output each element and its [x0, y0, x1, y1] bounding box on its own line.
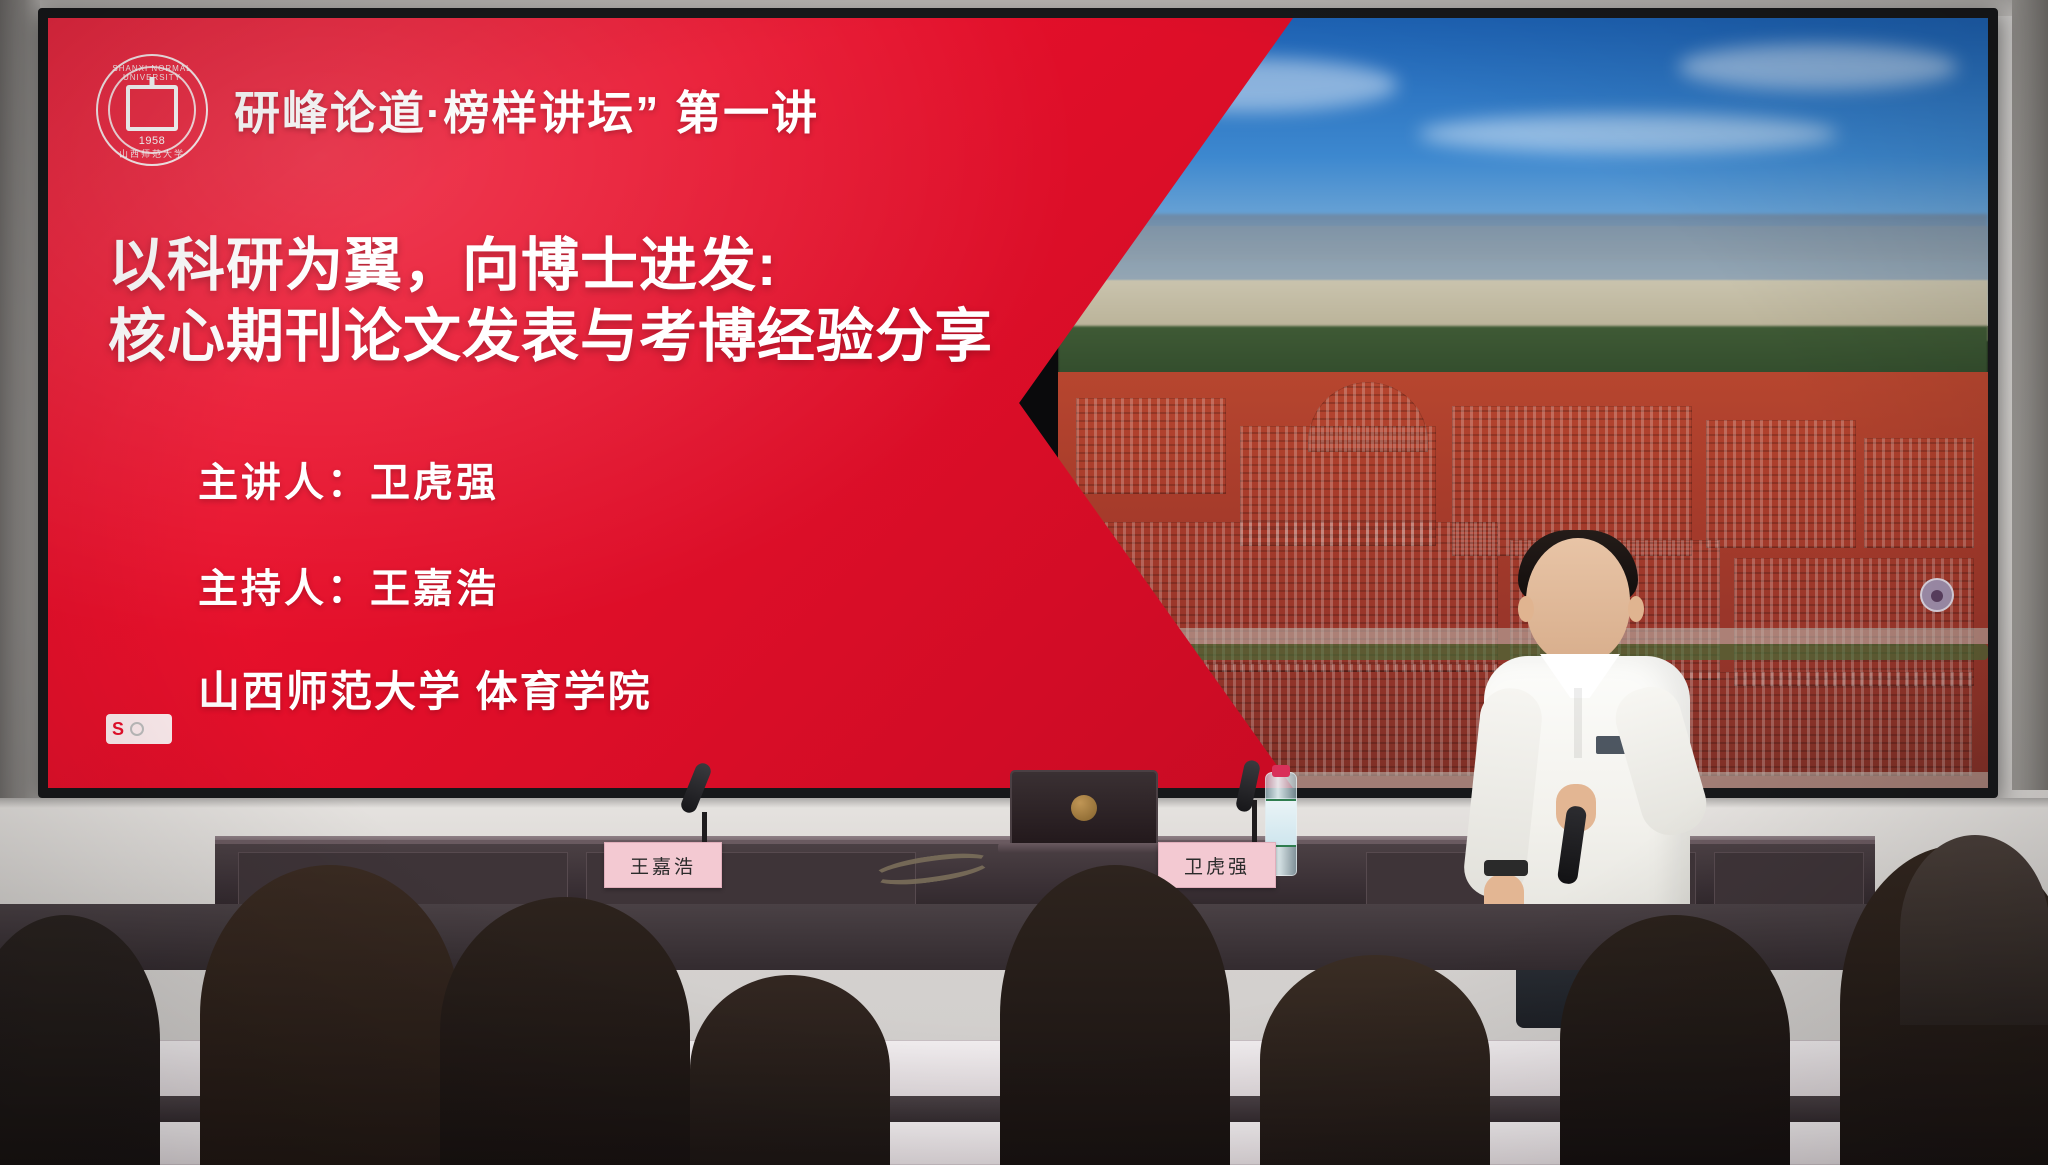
- wristwatch: [1484, 860, 1528, 876]
- slide-organization: 山西师范大学 体育学院: [198, 658, 652, 719]
- audience-head: [690, 975, 890, 1165]
- slide-kicker: 研峰论道·榜样讲坛” 第一讲: [234, 77, 819, 143]
- laptop-base: [998, 843, 1170, 853]
- watermark-avatar-icon: [1920, 578, 1954, 612]
- head: [1526, 538, 1630, 664]
- app-watermark-chip: S: [106, 714, 172, 744]
- ear: [1518, 596, 1534, 622]
- slide-people: 主讲人：卫虎强 主持人：王嘉浩: [198, 450, 499, 662]
- shirt-placket: [1574, 688, 1582, 758]
- slide-speaker-label: 主讲人：卫虎强: [198, 450, 499, 508]
- wall-left: [0, 0, 40, 820]
- laptop: [1010, 770, 1158, 845]
- university-seal-icon: SHANXI NORMAL UNIVERSITY 1958 山西师范大学: [96, 54, 208, 166]
- ear: [1628, 596, 1644, 622]
- audience-head: [440, 897, 690, 1165]
- seal-chinese-arc: 山西师范大学: [98, 147, 206, 160]
- cloud: [1678, 44, 1958, 90]
- nameplate-host: 王嘉浩: [604, 842, 722, 888]
- slide-title-line-1: 以科研为翼，向博士进发:: [108, 230, 993, 301]
- audience-head: [1260, 955, 1490, 1165]
- bottle-label: [1266, 799, 1296, 847]
- banner-header: SHANXI NORMAL UNIVERSITY 1958 山西师范大学 研峰论…: [96, 54, 819, 166]
- audience-head: [200, 865, 460, 1165]
- laptop-emblem-icon: [1071, 795, 1097, 821]
- seal-glyph: [126, 85, 178, 131]
- slide-host-label: 主持人：王嘉浩: [198, 556, 499, 614]
- cloud: [1418, 114, 1838, 154]
- audience-head: [1900, 835, 2048, 1025]
- nameplate-speaker: 卫虎强: [1158, 842, 1276, 888]
- bottle-cap: [1272, 765, 1290, 777]
- circle-icon: [130, 722, 144, 736]
- audience-head: [1000, 865, 1230, 1165]
- lecture-hall-scene: SHANXI NORMAL UNIVERSITY 1958 山西师范大学 研峰论…: [0, 0, 2048, 1165]
- wall-right: [2012, 0, 2048, 790]
- audience-head: [1560, 915, 1790, 1165]
- slide-title-block: 以科研为翼，向博士进发: 核心期刊论文发表与考博经验分享: [108, 230, 993, 373]
- seal-year: 1958: [139, 135, 165, 147]
- slide-title-line-2: 核心期刊论文发表与考博经验分享: [108, 301, 993, 372]
- app-mark-icon: S: [112, 720, 124, 738]
